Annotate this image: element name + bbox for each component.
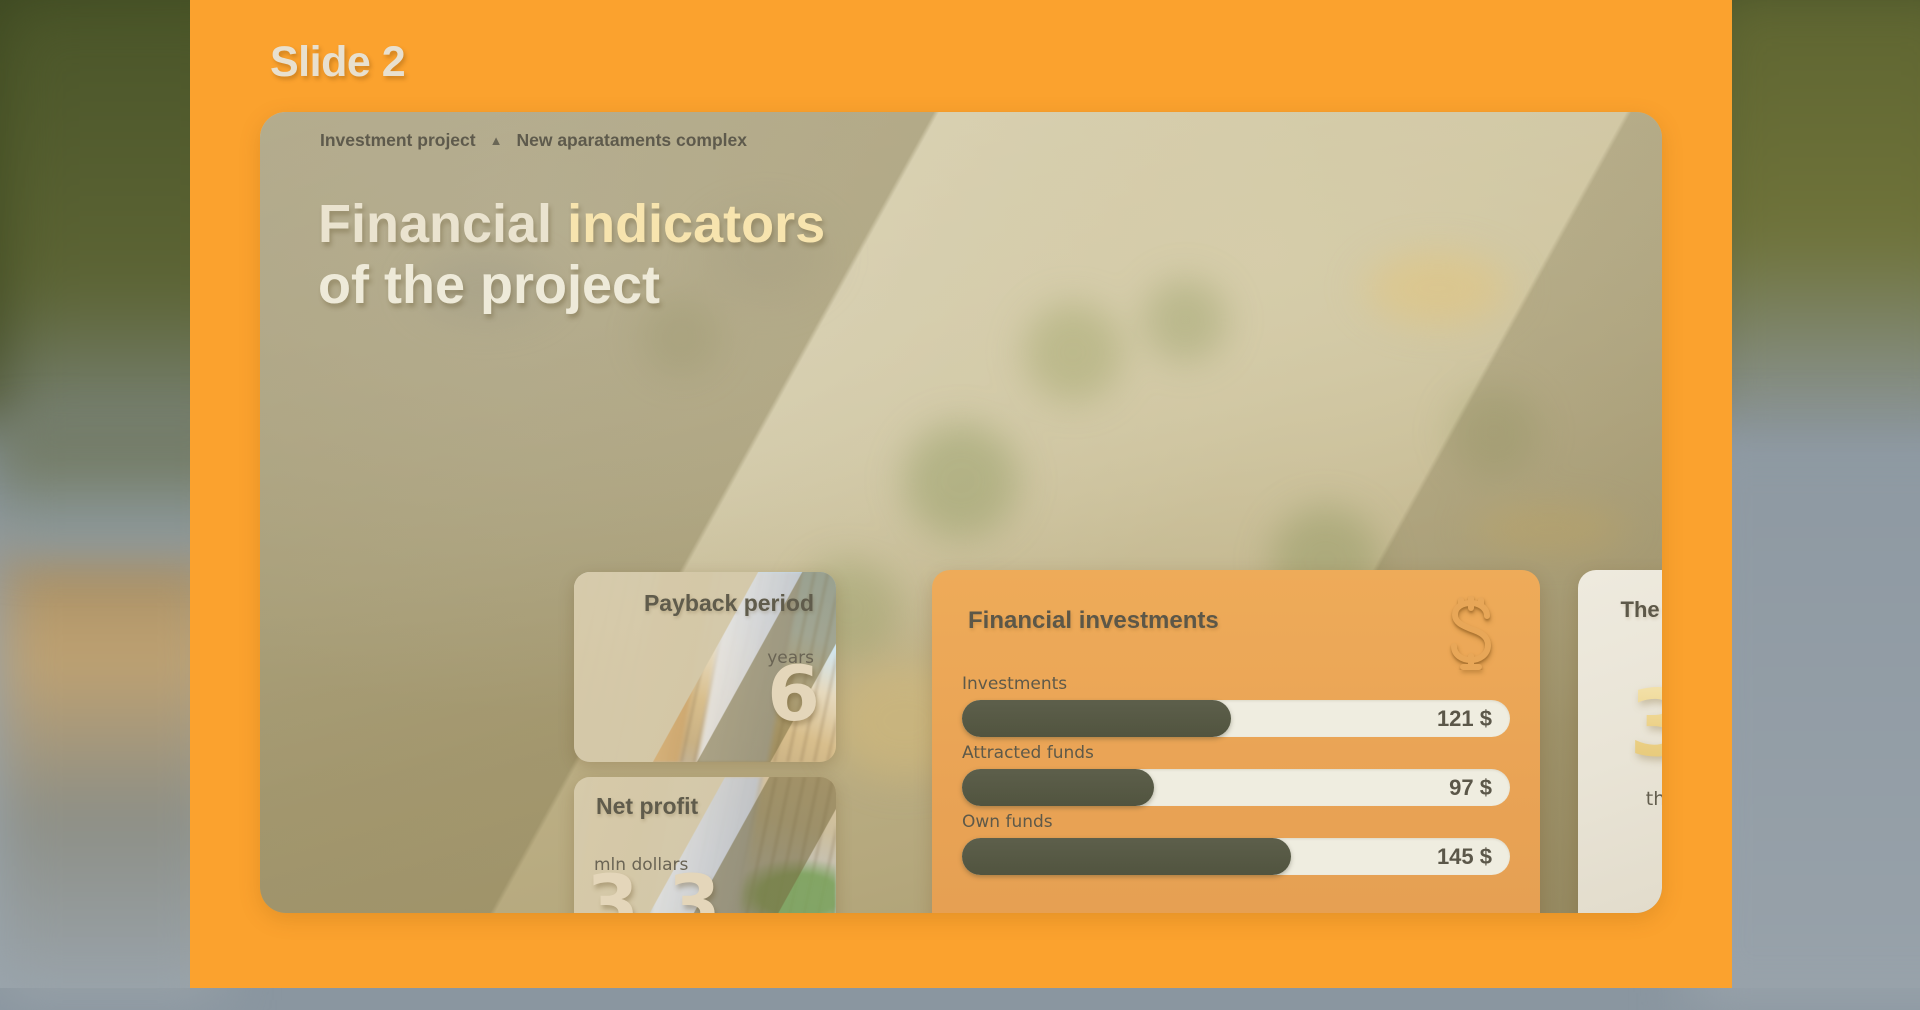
financial-investments-panel: Financial investments Investments 121 $ — [932, 570, 1540, 913]
breadcrumb: Investment project ▲ New aparataments co… — [320, 130, 747, 151]
bar-track-investments[interactable]: 121 $ — [962, 700, 1510, 737]
breadcrumb-item-project[interactable]: Investment project — [320, 130, 476, 151]
breadcrumb-item-complex[interactable]: New aparataments complex — [516, 130, 747, 151]
slide-label: Slide 2 — [270, 38, 405, 87]
metric-label-net-profit: Net profit — [596, 793, 698, 821]
total-cost-value: 363 — [1578, 678, 1662, 770]
page-title-line-2: of the project — [318, 255, 825, 316]
bar-label-attracted-funds: Attracted funds — [962, 743, 1510, 763]
backdrop-blob-left-bottom — [0, 540, 220, 1000]
bar-label-investments: Investments — [962, 674, 1510, 694]
total-cost-unit: thousand dollars — [1578, 788, 1662, 810]
page-title-word-financial: Financial — [318, 194, 567, 254]
metric-card-payback-period[interactable]: Payback period years 6 — [574, 572, 836, 762]
metric-value-net-profit: 3,3 — [586, 869, 721, 913]
metric-label-payback: Payback period — [644, 590, 814, 618]
bar-row-attracted-funds: Attracted funds 97 $ — [962, 743, 1510, 806]
total-cost-card[interactable]: The total cost of the project 363 thousa… — [1578, 570, 1662, 913]
bar-fill-attracted-funds — [962, 769, 1154, 806]
metric-value-payback: 6 — [767, 660, 820, 728]
bar-value-own-funds: 145 $ — [1437, 838, 1492, 875]
bar-value-investments: 121 $ — [1437, 700, 1492, 737]
bar-track-own-funds[interactable]: 145 $ — [962, 838, 1510, 875]
total-cost-title: The total cost of the project — [1578, 596, 1662, 651]
bar-row-investments: Investments 121 $ — [962, 674, 1510, 737]
metric-card-net-profit[interactable]: Net profit mln dollars 3,3 — [574, 777, 836, 913]
bar-fill-own-funds — [962, 838, 1291, 875]
bar-value-attracted-funds: 97 $ — [1449, 769, 1492, 806]
triangle-up-icon: ▲ — [490, 134, 503, 147]
bar-row-own-funds: Own funds 145 $ — [962, 812, 1510, 875]
page-title: Financial indicators of the project — [318, 194, 825, 316]
page-title-line-1: Financial indicators — [318, 194, 825, 255]
slide-panel: Slide 2 Investment project ▲ New aparata… — [190, 0, 1732, 988]
bar-track-attracted-funds[interactable]: 97 $ — [962, 769, 1510, 806]
dollar-sign-icon — [1440, 596, 1502, 670]
bar-label-own-funds: Own funds — [962, 812, 1510, 832]
financial-investments-title: Financial investments — [968, 607, 1219, 635]
backdrop-blob-right-top — [1700, 0, 1920, 450]
content-card: Investment project ▲ New aparataments co… — [260, 112, 1662, 913]
page-title-word-indicators: indicators — [567, 194, 825, 254]
bar-fill-investments — [962, 700, 1231, 737]
